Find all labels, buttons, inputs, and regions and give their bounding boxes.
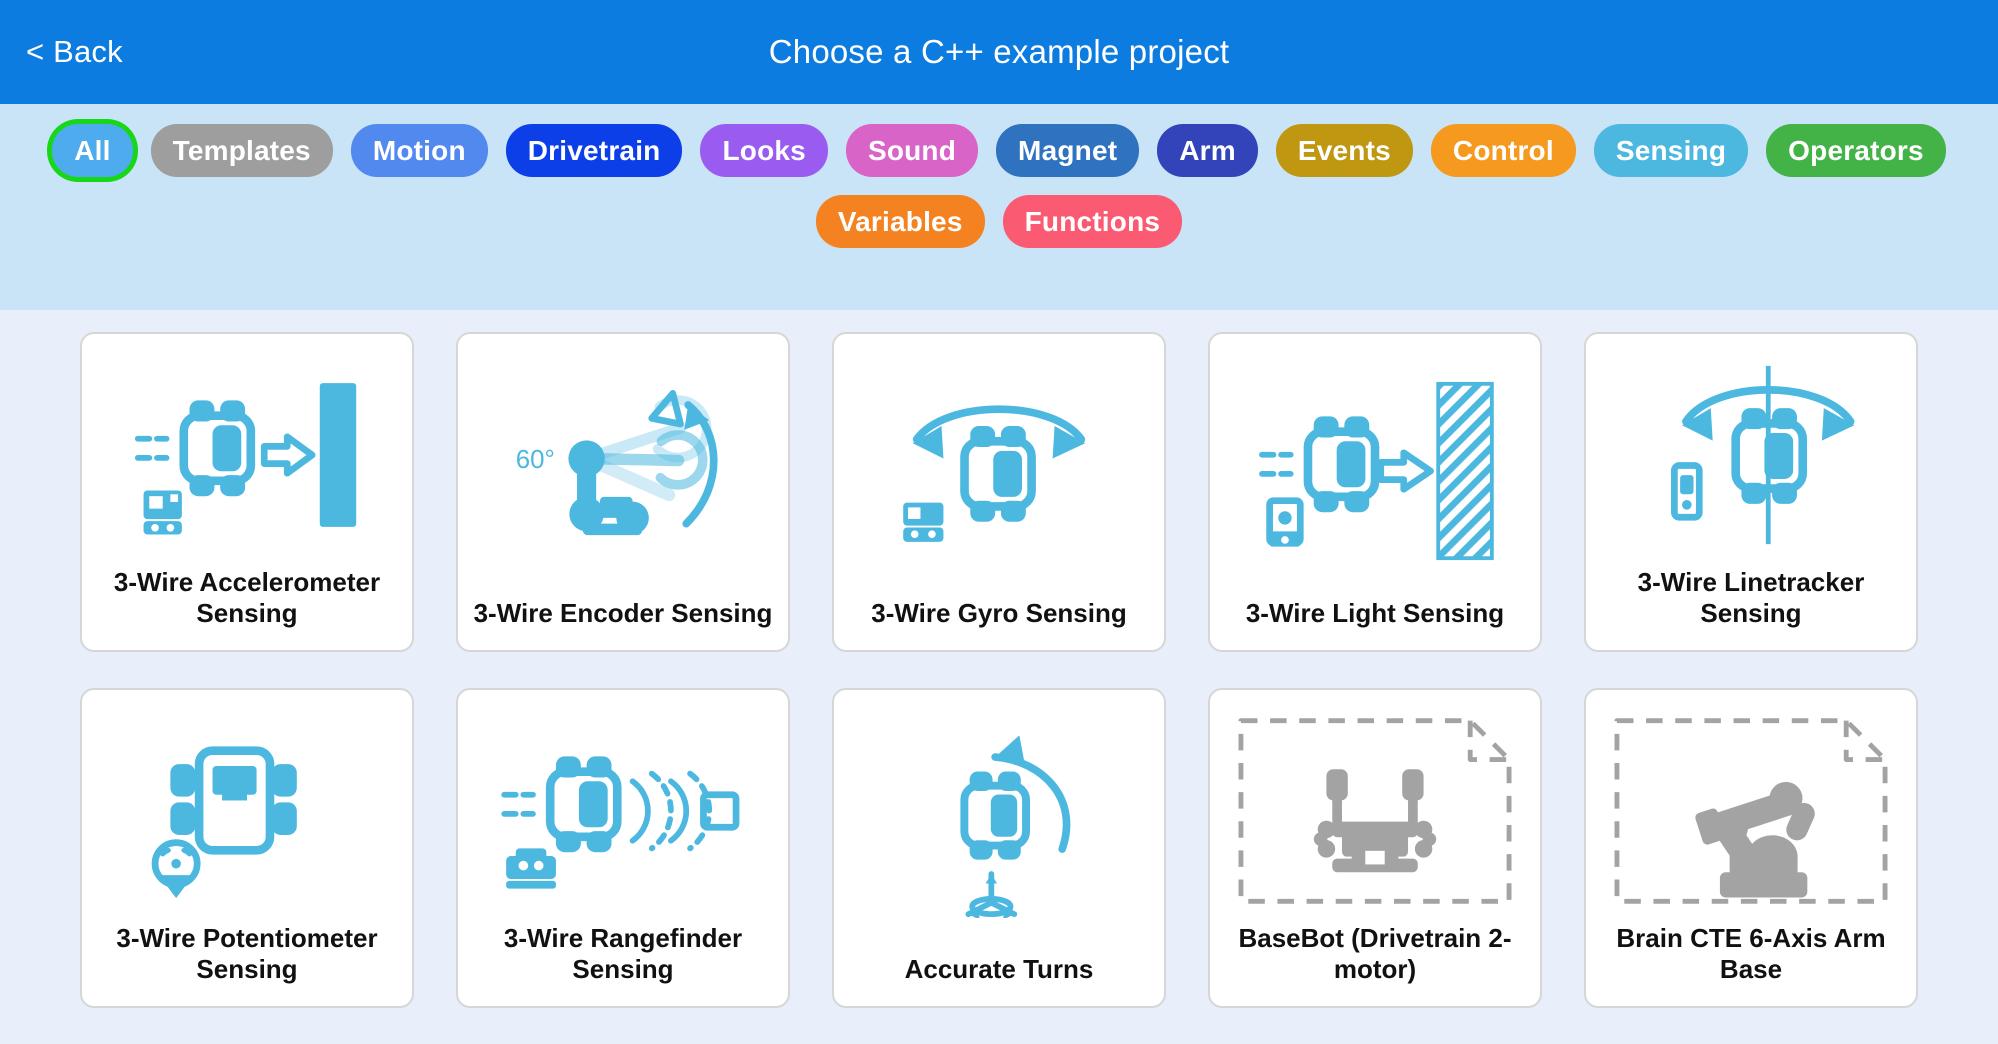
chip-label: Variables [838,206,963,237]
chip-operators[interactable]: Operators [1766,124,1946,177]
chip-label: Operators [1788,135,1924,166]
project-card[interactable]: 3-Wire Accelerometer Sensing [80,332,414,652]
robot-gyro-icon [846,348,1152,594]
robot-light-wall-icon [1222,348,1528,594]
chip-all[interactable]: All [52,124,132,177]
project-card-title: Brain CTE 6-Axis Arm Base [1598,919,1904,996]
robot-potentiometer-icon [94,704,400,919]
project-card[interactable]: 3-Wire Rangefinder Sensing [456,688,790,1008]
chip-label: Sound [868,135,956,166]
chip-drivetrain[interactable]: Drivetrain [506,124,683,177]
chip-label: All [74,135,110,166]
robot-arm-template-icon [1598,704,1904,919]
chip-control[interactable]: Control [1431,124,1576,177]
project-card[interactable]: 3-Wire Light Sensing [1208,332,1542,652]
robot-turn-arrow-icon [846,704,1152,950]
project-card[interactable]: Accurate Turns [832,688,1166,1008]
chip-label: Looks [722,135,805,166]
project-card-title: 3-Wire Encoder Sensing [472,594,775,640]
chip-arm[interactable]: Arm [1157,124,1258,177]
chip-label: Arm [1179,135,1236,166]
page-title: Choose a C++ example project [0,33,1998,71]
project-card-title: 3-Wire Potentiometer Sensing [94,919,400,996]
encoder-angle-icon: 60° [470,348,776,594]
chip-label: Drivetrain [528,135,661,166]
chip-functions[interactable]: Functions [1003,195,1183,248]
chip-label: Control [1453,135,1554,166]
robot-rangefinder-icon [470,704,776,919]
chip-motion[interactable]: Motion [351,124,488,177]
project-card[interactable]: 3-Wire Gyro Sensing [832,332,1166,652]
project-card[interactable]: Brain CTE 6-Axis Arm Base [1584,688,1918,1008]
project-card-grid: 3-Wire Accelerometer Sensing 60° 3-Wire … [80,332,1918,1008]
chip-label: Magnet [1018,135,1117,166]
project-card-title: 3-Wire Accelerometer Sensing [94,563,400,640]
project-card[interactable]: 60° 3-Wire Encoder Sensing [456,332,790,652]
project-card-title: BaseBot (Drivetrain 2-motor) [1222,919,1528,996]
project-list-area: 3-Wire Accelerometer Sensing 60° 3-Wire … [0,310,1998,1044]
category-filter-bar: AllTemplatesMotionDrivetrainLooksSoundMa… [0,104,1998,310]
project-card-title: 3-Wire Rangefinder Sensing [470,919,776,996]
project-card[interactable]: 3-Wire Potentiometer Sensing [80,688,414,1008]
back-button[interactable]: < Back [16,28,133,76]
chip-label: Functions [1025,206,1161,237]
chip-templates[interactable]: Templates [151,124,333,177]
project-card-title: 3-Wire Linetracker Sensing [1598,563,1904,640]
robot-accelerometer-icon [94,348,400,563]
chip-label: Sensing [1616,135,1726,166]
category-chip-row: AllTemplatesMotionDrivetrainLooksSoundMa… [24,124,1974,248]
project-card[interactable]: BaseBot (Drivetrain 2-motor) [1208,688,1542,1008]
top-bar: < Back Choose a C++ example project [0,0,1998,104]
project-card-title: 3-Wire Light Sensing [1244,594,1506,640]
chip-label: Events [1298,135,1391,166]
chip-looks[interactable]: Looks [700,124,827,177]
chip-magnet[interactable]: Magnet [996,124,1139,177]
svg-text:60°: 60° [516,446,555,474]
chip-sound[interactable]: Sound [846,124,978,177]
chip-label: Motion [373,135,466,166]
project-card-title: 3-Wire Gyro Sensing [869,594,1129,640]
chip-events[interactable]: Events [1276,124,1413,177]
basebot-template-icon [1222,704,1528,919]
robot-linetracker-icon [1598,348,1904,563]
project-card[interactable]: 3-Wire Linetracker Sensing [1584,332,1918,652]
project-card-title: Accurate Turns [903,950,1096,996]
chip-variables[interactable]: Variables [816,195,985,248]
chip-sensing[interactable]: Sensing [1594,124,1748,177]
chip-label: Templates [173,135,311,166]
